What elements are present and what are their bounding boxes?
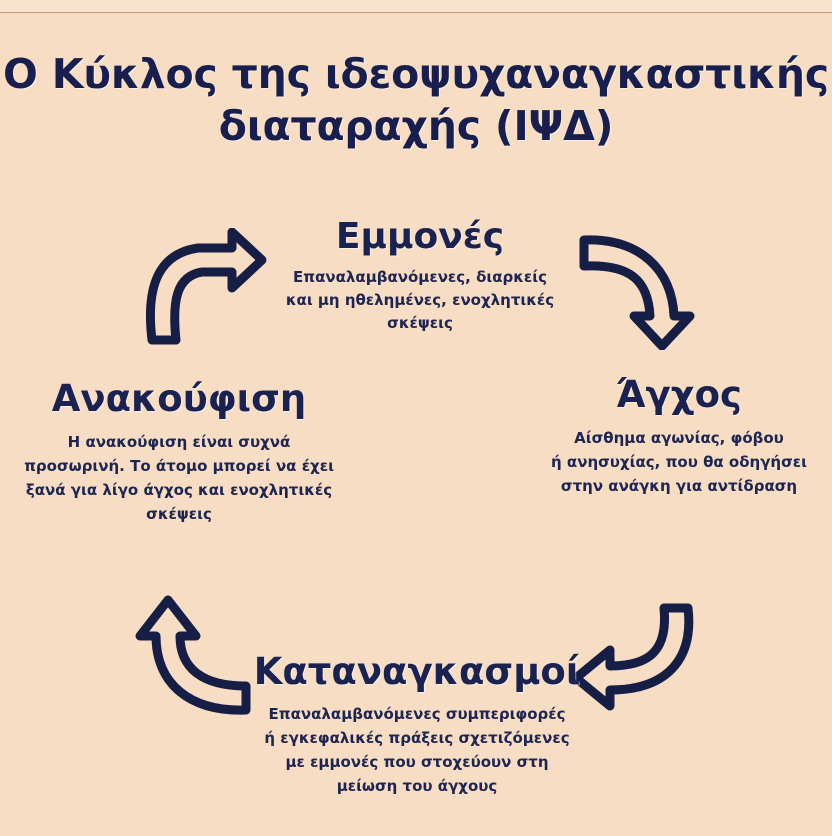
description-line: σκέψεις — [246, 312, 594, 335]
description-line: Επαναλαμβανόμενες συμπεριφορές — [207, 702, 627, 726]
ocd-cycle-infographic: Ο Κύκλος της ιδεοψυχαναγκαστικής διαταρα… — [0, 0, 832, 836]
description-line: προσωρινή. Το άτομο μπορεί να έχει — [4, 454, 354, 478]
description-line: και μη ηθελημένες, ενοχλητικές — [246, 289, 594, 312]
arrow-obsessions-to-anxiety-icon — [576, 226, 702, 350]
cycle-node-relief: Ανακούφιση Η ανακούφιση είναι συχνά προσ… — [4, 377, 354, 526]
cycle-node-obsessions: Εμμονές Επαναλαμβανόμενες, διαρκείς και … — [246, 216, 594, 335]
cycle-node-anxiety-description: Αίσθημα αγωνίας, φόβου ή ανησυχίας, που … — [526, 426, 832, 498]
cycle-node-anxiety-title: Άγχος — [526, 373, 832, 417]
description-line: στην ανάγκη για αντίδραση — [526, 474, 832, 498]
page-title-line-1: Ο Κύκλος της ιδεοψυχαναγκαστικής — [0, 48, 832, 100]
page-title: Ο Κύκλος της ιδεοψυχαναγκαστικής διαταρα… — [0, 48, 832, 152]
cycle-node-obsessions-title: Εμμονές — [246, 216, 594, 258]
description-line: μείωση του άγχους — [207, 774, 627, 798]
description-line: σκέψεις — [4, 502, 354, 526]
cycle-node-anxiety: Άγχος Αίσθημα αγωνίας, φόβου ή ανησυχίας… — [526, 373, 832, 498]
description-line: Η ανακούφιση είναι συχνά — [4, 430, 354, 454]
description-line: με εμμονές που στοχεύουν στη — [207, 750, 627, 774]
page-title-line-2: διαταραχής (ΙΨΔ) — [0, 100, 832, 152]
description-line: ή ανησυχίας, που θα οδηγήσει — [526, 450, 832, 474]
cycle-node-relief-description: Η ανακούφιση είναι συχνά προσωρινή. Το ά… — [4, 430, 354, 526]
description-line: Επαναλαμβανόμενες, διαρκείς — [246, 266, 594, 289]
description-line: ή εγκεφαλικές πράξεις σχετιζόμενες — [207, 726, 627, 750]
cycle-node-compulsions: Καταναγκασμοί Επαναλαμβανόμενες συμπεριφ… — [207, 650, 627, 798]
cycle-node-compulsions-title: Καταναγκασμοί — [207, 650, 627, 694]
cycle-node-obsessions-description: Επαναλαμβανόμενες, διαρκείς και μη ηθελη… — [246, 266, 594, 335]
description-line: ξανά για λίγο άγχος και ενοχλητικές — [4, 478, 354, 502]
cycle-node-relief-title: Ανακούφιση — [4, 377, 354, 421]
top-hairline-divider — [0, 12, 832, 13]
cycle-node-compulsions-description: Επαναλαμβανόμενες συμπεριφορές ή εγκεφαλ… — [207, 702, 627, 798]
top-edge-strip — [0, 0, 832, 12]
description-line: Αίσθημα αγωνίας, φόβου — [526, 426, 832, 450]
